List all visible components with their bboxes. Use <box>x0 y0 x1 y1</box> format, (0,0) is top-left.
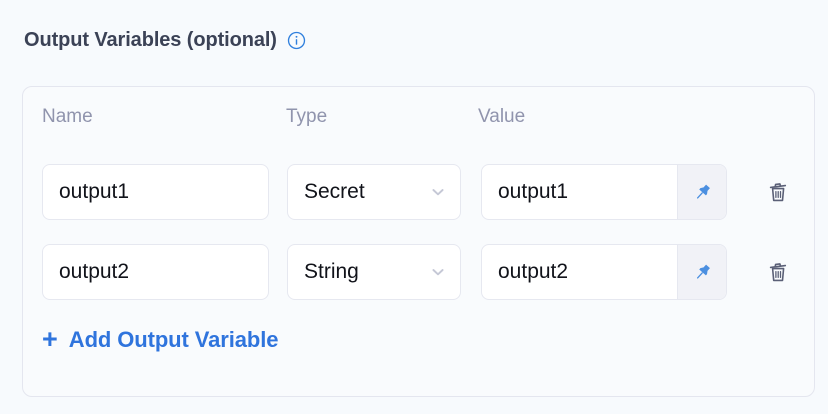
variable-type-value: String <box>304 260 359 284</box>
variable-value-input[interactable]: output1 <box>482 165 677 219</box>
trash-icon[interactable] <box>761 175 795 209</box>
variable-type-value: Secret <box>304 180 365 204</box>
variable-name-input[interactable]: output1 <box>42 164 269 220</box>
output-variables-section: Output Variables (optional) Name Type Va… <box>0 0 828 414</box>
plus-icon: + <box>42 326 58 353</box>
table-column-headers: Name Type Value <box>23 106 814 130</box>
chevron-down-icon <box>429 183 447 201</box>
trash-icon[interactable] <box>761 255 795 289</box>
variable-value-group: output2 <box>481 244 727 300</box>
add-output-variable-button[interactable]: + Add Output Variable <box>42 327 278 353</box>
info-circle-icon[interactable] <box>287 31 306 50</box>
column-header-name: Name <box>42 106 93 128</box>
table-row: output2 String output2 <box>42 244 795 300</box>
page-title: Output Variables (optional) <box>24 29 277 52</box>
variable-value-input[interactable]: output2 <box>482 245 677 299</box>
pin-icon[interactable] <box>677 245 726 299</box>
table-row: output1 Secret output1 <box>42 164 795 220</box>
variable-value-group: output1 <box>481 164 727 220</box>
variable-type-select[interactable]: String <box>287 244 461 300</box>
pin-icon[interactable] <box>677 165 726 219</box>
column-header-value: Value <box>478 106 525 128</box>
variable-name-input[interactable]: output2 <box>42 244 269 300</box>
chevron-down-icon <box>429 263 447 281</box>
section-header: Output Variables (optional) <box>24 26 306 54</box>
add-output-variable-label: Add Output Variable <box>69 327 279 353</box>
output-variables-card: Name Type Value output1 Secret output1 <box>22 86 815 397</box>
variable-type-select[interactable]: Secret <box>287 164 461 220</box>
column-header-type: Type <box>286 106 327 128</box>
